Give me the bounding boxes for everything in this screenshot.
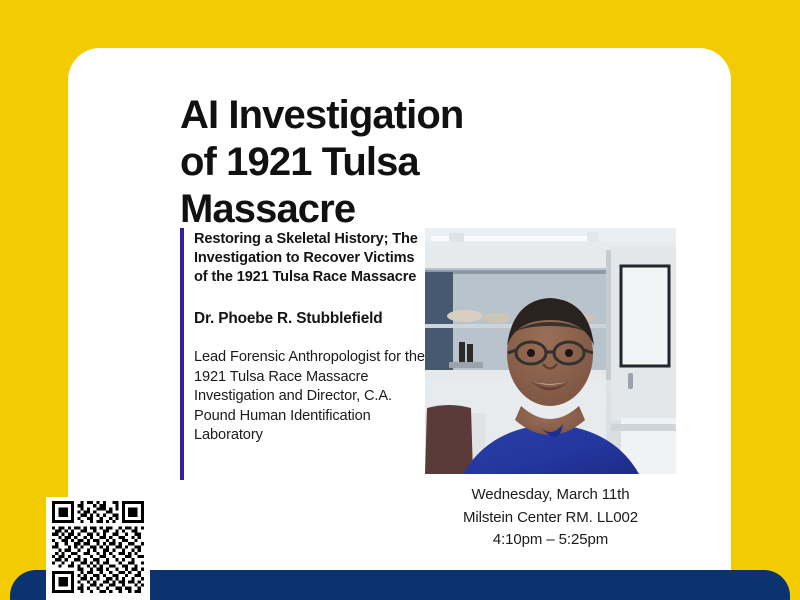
speaker-name: Dr. Phoebe R. Stubblefield	[194, 309, 426, 329]
page-title: AI Investigation of 1921 Tulsa Massacre	[180, 92, 600, 233]
event-time: 4:10pm – 5:25pm	[408, 529, 693, 552]
event-location: Milstein Center RM. LL002	[408, 507, 693, 530]
poster-card: AI Investigation of 1921 Tulsa Massacre …	[68, 48, 731, 573]
qr-code-panel	[46, 497, 150, 600]
speaker-bio: Lead Forensic Anthropologist for the 192…	[194, 348, 426, 446]
qr-code-icon[interactable]	[52, 501, 144, 593]
title-line-1: AI Investigation	[180, 93, 463, 137]
speaker-photo	[425, 228, 676, 474]
event-details: Wednesday, March 11th Milstein Center RM…	[408, 484, 693, 552]
title-line-2: of 1921 Tulsa	[180, 140, 419, 184]
talk-subtitle: Restoring a Skeletal History; The Invest…	[194, 230, 426, 287]
event-date: Wednesday, March 11th	[408, 484, 693, 507]
title-line-3: Massacre	[180, 187, 355, 231]
poster-canvas: AI Investigation of 1921 Tulsa Massacre …	[0, 0, 800, 600]
accent-bar	[180, 228, 184, 480]
details-column: Restoring a Skeletal History; The Invest…	[194, 230, 426, 446]
